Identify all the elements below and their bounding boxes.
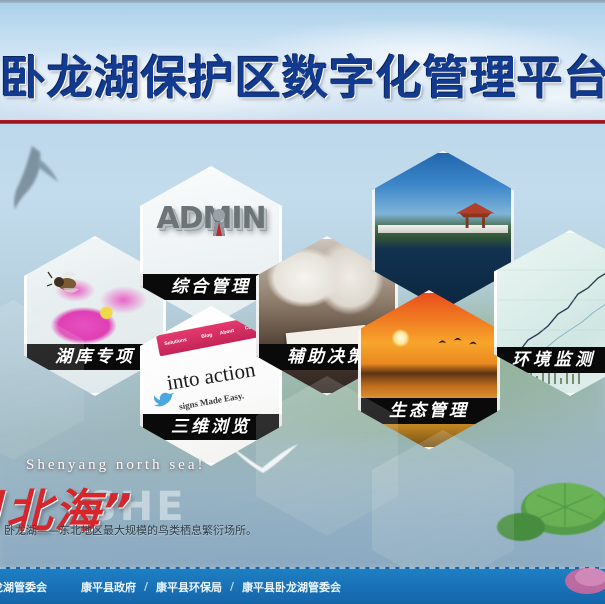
footer-separator-1: / <box>144 580 148 593</box>
footer-link-epb[interactable]: 康平县环保局 <box>156 579 222 595</box>
footer-link-gov[interactable]: 康平县政府 <box>81 579 136 595</box>
navbar-item-2: About <box>219 328 234 337</box>
chess-pawn-icon <box>210 208 228 238</box>
footer-links: 康平县政府 / 康平县环保局 / 康平县卧龙湖管委会 <box>81 579 341 595</box>
mock-navbar: Solutions Blog About Con <box>156 315 269 357</box>
footer-lotus-icon <box>547 563 605 603</box>
bird-flock-icon <box>436 335 487 354</box>
slogan-english: Shenyang north sea! <box>26 457 205 474</box>
navbar-item-0: Solutions <box>164 338 188 348</box>
module-label: 环境监测 <box>494 347 605 373</box>
footer-separator-2: / <box>230 580 234 593</box>
window-top-edge <box>0 0 605 3</box>
footer-link-wlh[interactable]: 康平县卧龙湖管委会 <box>242 579 341 595</box>
navbar-item-1: Blog <box>201 333 213 341</box>
application-root: 卧龙湖保护区数字化管理平台 <box>0 0 605 604</box>
bee-icon <box>47 268 85 296</box>
footer-bar: 康平县卧龙湖管委会 康平县政府 / 康平县环保局 / 康平县卧龙湖管委会 <box>0 567 605 604</box>
twitter-bird-icon <box>154 391 174 407</box>
pavilion-icon <box>454 201 497 230</box>
page-title: 卧龙湖保护区数字化管理平台 <box>0 47 605 109</box>
footer-owner: 康平县卧龙湖管委会 <box>0 579 47 595</box>
slogan-description: 卧龙湖——东北地区最大规模的鸟类栖息繁衍场所。 <box>4 522 257 538</box>
navbar-item-3: Con <box>244 324 255 332</box>
